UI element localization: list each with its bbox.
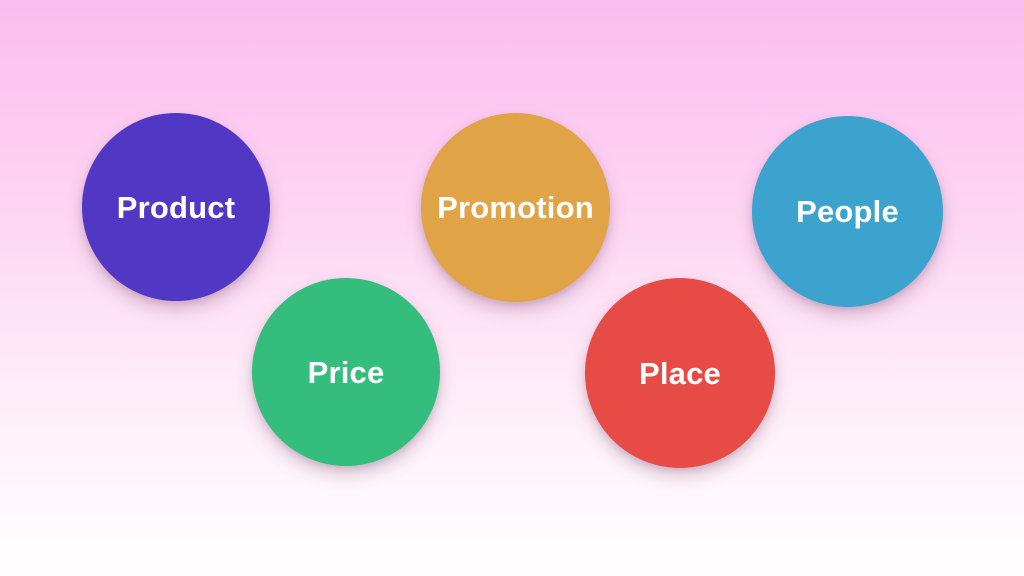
circle-promotion[interactable]: Promotion	[421, 113, 610, 302]
slide-canvas: Product Price Promotion Place People	[0, 0, 1024, 576]
circle-label-place: Place	[639, 358, 721, 389]
circle-people[interactable]: People	[752, 116, 943, 307]
circle-place[interactable]: Place	[585, 278, 775, 468]
circle-label-price: Price	[308, 357, 385, 388]
circle-price[interactable]: Price	[252, 278, 440, 466]
circle-label-product: Product	[117, 192, 236, 223]
circle-product[interactable]: Product	[82, 113, 270, 301]
circle-label-promotion: Promotion	[437, 192, 594, 223]
circle-label-people: People	[796, 196, 899, 227]
